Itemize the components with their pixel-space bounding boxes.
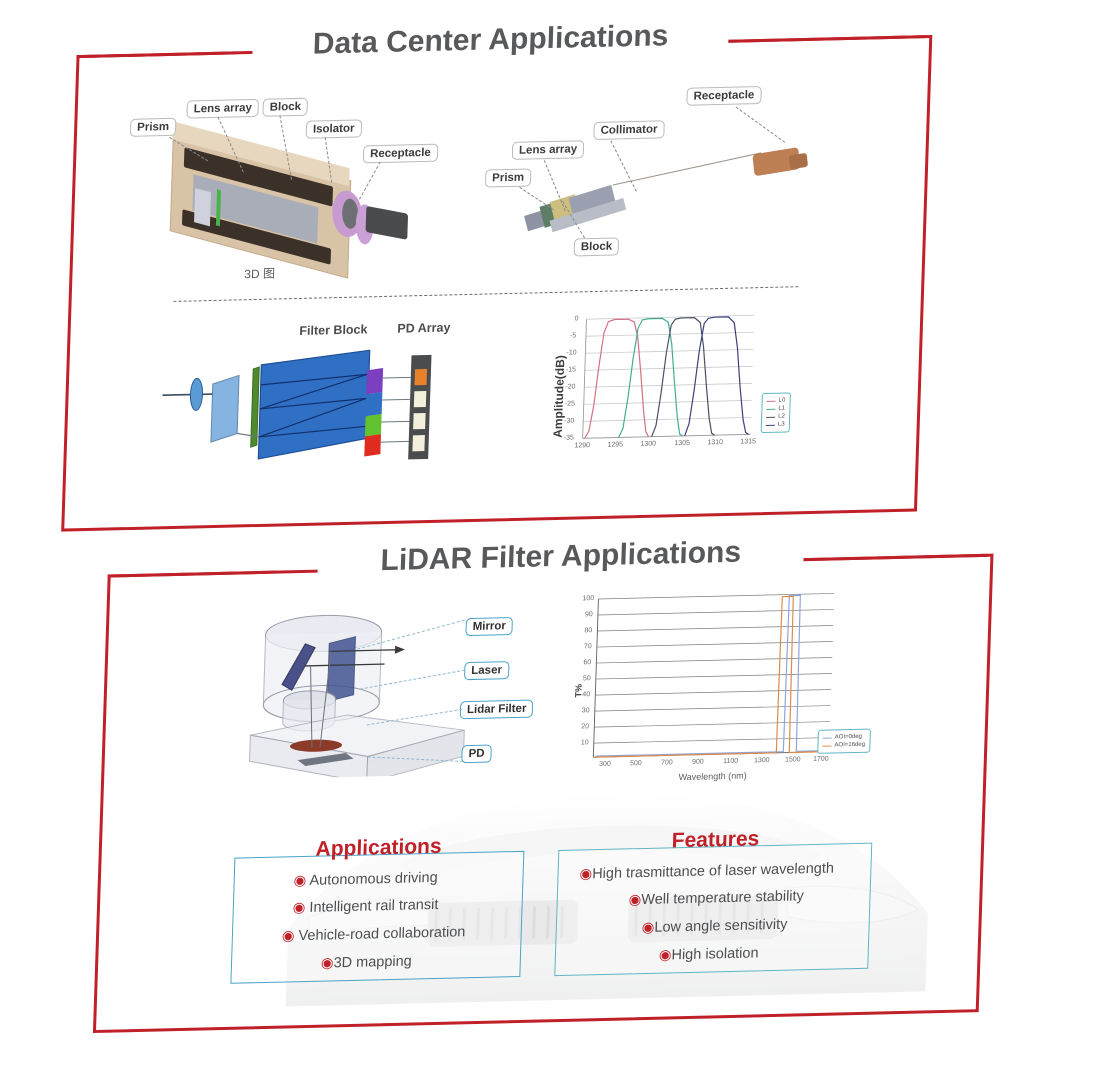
callout-lidar-filter: Lidar Filter [460, 700, 534, 720]
xtick: 500 [630, 760, 642, 767]
chart-cwdm-ylabel: Amplitude(dB) [551, 355, 568, 438]
callout-collimator: Collimator [593, 120, 664, 140]
legend-item: AOI=16deg [822, 741, 865, 750]
callout-prism-2: Prism [485, 168, 532, 187]
callout-pd: PD [461, 745, 492, 764]
xtick: 1305 [674, 440, 690, 447]
ytick: 70 [584, 643, 592, 650]
xtick: 1295 [607, 441, 623, 448]
chart-cwdm-legend: L0 L1 L2 L3 [761, 392, 791, 433]
features-item: ◉High isolation [659, 945, 759, 963]
xtick: 700 [661, 759, 673, 766]
ytick: -25 [565, 400, 575, 407]
screenshot-stage: Data Center Applications 3D 图 Prism Lens… [0, 0, 1097, 1080]
callout-receptacle-1: Receptacle [363, 144, 438, 164]
callout-isolator-1: Isolator [306, 119, 362, 138]
xtick: 1290 [574, 442, 590, 449]
ytick: 90 [585, 611, 593, 618]
xtick: 300 [599, 761, 611, 768]
ytick: 50 [583, 675, 591, 682]
xtick: 1300 [754, 757, 770, 764]
ytick: -35 [564, 435, 574, 442]
chart-lidar-transmission: T% [558, 582, 884, 790]
callout-receptacle-2: Receptacle [686, 86, 761, 106]
ytick: -20 [565, 383, 575, 390]
figure-filter-block [158, 336, 452, 473]
ytick: -30 [564, 418, 574, 425]
ytick: 10 [581, 739, 589, 746]
callout-prism-1: Prism [130, 118, 177, 137]
callout-block-2: Block [574, 237, 620, 256]
xtick: 1300 [640, 441, 656, 448]
ytick: -5 [570, 332, 576, 339]
chart-lidar-legend: AOI=0deg AOI=16deg [817, 729, 870, 754]
label-pd-array: PD Array [397, 320, 450, 335]
ytick: 20 [581, 723, 589, 730]
xtick: 1700 [813, 756, 829, 763]
legend-item: L3 [766, 421, 785, 429]
xtick: 1310 [707, 439, 723, 446]
callout-lens-array-2: Lens array [512, 140, 585, 160]
ytick: 80 [584, 627, 592, 634]
xtick: 900 [692, 759, 704, 766]
ytick: 30 [582, 707, 590, 714]
callout-mirror: Mirror [465, 617, 513, 636]
figure-collimator-assembly [514, 166, 817, 263]
figure-lidar-module [241, 604, 476, 780]
ytick: 60 [583, 659, 591, 666]
ytick: -15 [566, 366, 576, 373]
chart-cwdm-channels: Amplitude(dB) [538, 306, 798, 467]
label-filter-block: Filter Block [299, 322, 368, 338]
callout-lens-array-1: Lens array [186, 99, 259, 119]
xtick: 1500 [785, 756, 801, 763]
ytick: 0 [574, 315, 578, 322]
xtick: 1100 [723, 758, 738, 765]
callout-laser: Laser [464, 661, 509, 680]
applications-title: Applications [298, 834, 459, 862]
features-item: ◉Low angle sensitivity [641, 917, 787, 936]
xtick: 1315 [740, 438, 756, 445]
ytick: 40 [582, 691, 590, 698]
callout-block-1: Block [262, 98, 308, 117]
figure-3d-caption: 3D 图 [244, 265, 275, 283]
ytick: -10 [566, 349, 576, 356]
features-title: Features [650, 827, 781, 854]
document-sheet: Data Center Applications 3D 图 Prism Lens… [0, 0, 1097, 1080]
ytick: 100 [582, 595, 594, 602]
applications-item: ◉ Autonomous driving [293, 870, 438, 889]
applications-item: ◉3D mapping [321, 953, 412, 971]
chart-lidar-xlabel: Wavelength (nm) [678, 771, 747, 783]
